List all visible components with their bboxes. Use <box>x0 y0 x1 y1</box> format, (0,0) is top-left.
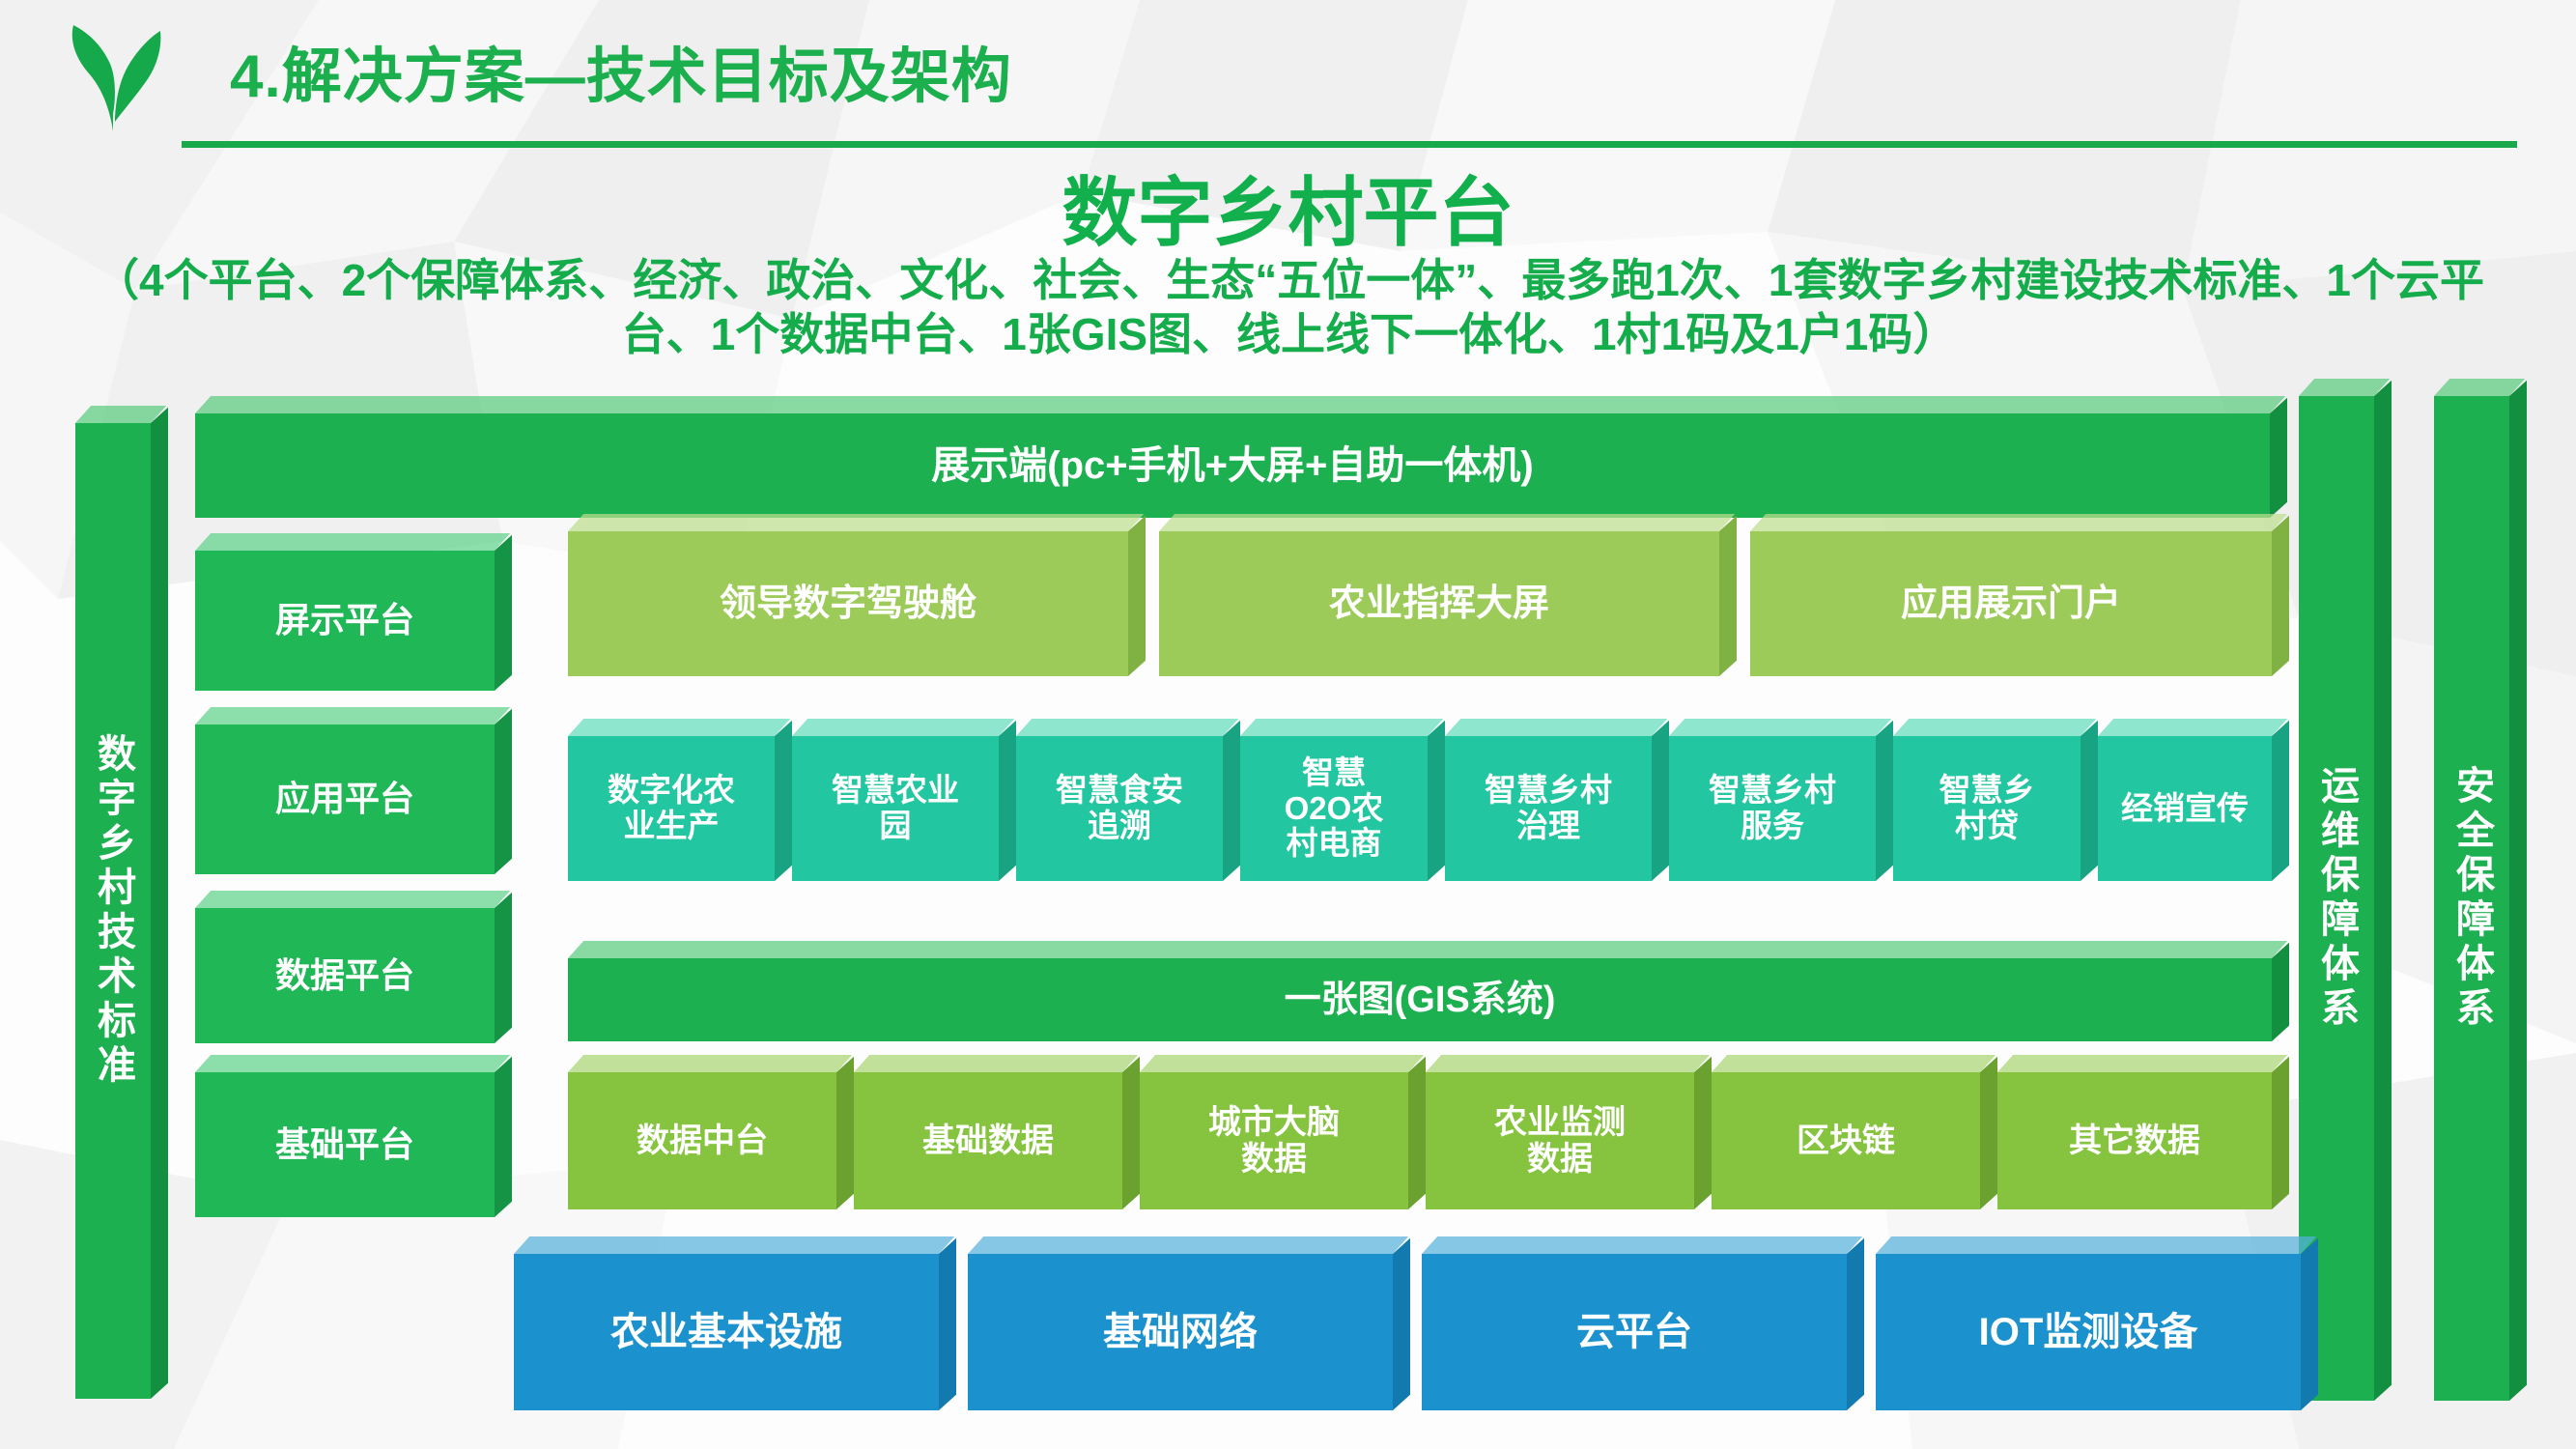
data-tile-3[interactable]: 农业监测 数据 <box>1426 1072 1694 1209</box>
display-tile-0[interactable]: 领导数字驾驶舱 <box>568 531 1128 676</box>
app-tile-1-label: 智慧农业 园 <box>826 773 965 844</box>
block-side-face <box>495 893 512 1043</box>
top-banner-label: 展示端(pc+手机+大屏+自助一体机) <box>925 444 1539 488</box>
infra-tile-1[interactable]: 基础网络 <box>968 1254 1393 1410</box>
infra-tile-2-label: 云平台 <box>1571 1311 1698 1354</box>
main-heading: 数字乡村平台 <box>0 153 2576 261</box>
app-tile-1[interactable]: 智慧农业 园 <box>792 736 999 881</box>
block-top-face <box>792 719 1014 736</box>
layer-label-data[interactable]: 数据平台 <box>195 908 495 1043</box>
layer-label-infrastructure[interactable]: 基础平台 <box>195 1072 495 1217</box>
app-tile-7-label: 经销宣传 <box>2115 791 2254 827</box>
left-standard-column-label: 数字乡村技术标准 <box>88 733 138 1089</box>
infra-tile-3-label: IOT监测设备 <box>1973 1311 2204 1354</box>
block-side-face <box>1128 516 1146 676</box>
infra-tile-2[interactable]: 云平台 <box>1422 1254 1847 1410</box>
app-tile-3[interactable]: 智慧 O2O农 村电商 <box>1240 736 1428 881</box>
block-top-face <box>1426 1055 1710 1072</box>
block-top-face <box>568 1055 852 1072</box>
block-top-face <box>195 533 510 551</box>
block-top-face <box>195 1055 510 1072</box>
block-side-face <box>1719 516 1737 676</box>
app-tile-5-label: 智慧乡村 服务 <box>1703 773 1842 844</box>
block-side-face <box>2272 1057 2289 1209</box>
block-top-face <box>1016 719 1238 736</box>
architecture-diagram: 数字乡村技术标准 运维保障体系 安全保障体系 展示端(pc+手机+大屏+自助一体… <box>0 396 2576 1449</box>
block-top-face <box>1240 719 1443 736</box>
block-side-face <box>836 1057 854 1209</box>
block-side-face <box>1408 1057 1426 1209</box>
right-column-security-label: 安全保障体系 <box>2447 765 2497 1032</box>
block-top-face <box>2098 719 2287 736</box>
block-side-face <box>2509 381 2527 1401</box>
block-side-face <box>1428 721 1445 881</box>
data-tile-1[interactable]: 基础数据 <box>854 1072 1122 1209</box>
display-tile-2-label: 应用展示门户 <box>1895 583 2127 625</box>
block-top-face <box>195 396 2285 413</box>
block-top-face <box>195 891 510 908</box>
right-column-security[interactable]: 安全保障体系 <box>2434 396 2509 1401</box>
block-side-face <box>775 721 792 881</box>
left-standard-column[interactable]: 数字乡村技术标准 <box>75 423 151 1399</box>
block-side-face <box>495 535 512 691</box>
block-side-face <box>939 1238 956 1410</box>
block-side-face <box>2301 1238 2318 1410</box>
display-tile-0-label: 领导数字驾驶舱 <box>714 583 982 625</box>
block-top-face <box>568 719 790 736</box>
data-tile-5-label: 其它数据 <box>2063 1122 2206 1159</box>
app-tile-2-label: 智慧食安 追溯 <box>1050 773 1189 844</box>
block-side-face <box>495 1057 512 1217</box>
block-side-face <box>1393 1238 1410 1410</box>
block-top-face <box>1750 514 2287 531</box>
app-tile-0[interactable]: 数字化农 业生产 <box>568 736 775 881</box>
block-top-face <box>968 1236 1408 1254</box>
block-side-face <box>999 721 1016 881</box>
layer-label-infrastructure-text: 基础平台 <box>269 1125 420 1164</box>
block-side-face <box>1847 1238 1864 1410</box>
block-side-face <box>2272 516 2289 676</box>
block-side-face <box>2272 721 2289 881</box>
gis-bar-label: 一张图(GIS系统) <box>1279 980 1562 1021</box>
data-tile-0-label: 数据中台 <box>631 1122 774 1159</box>
block-top-face <box>1422 1236 1862 1254</box>
block-side-face <box>2270 398 2287 518</box>
block-top-face <box>514 1236 954 1254</box>
display-tile-1[interactable]: 农业指挥大屏 <box>1159 531 1719 676</box>
block-top-face <box>195 707 510 724</box>
subtitle-paragraph: （4个平台、2个保障体系、经济、政治、文化、社会、生态“五位一体”、最多跑1次、… <box>92 253 2487 361</box>
block-side-face <box>1223 721 1240 881</box>
block-top-face <box>568 941 2287 958</box>
block-top-face <box>1445 719 1667 736</box>
app-tile-4-label: 智慧乡村 治理 <box>1479 773 1618 844</box>
block-side-face <box>2272 943 2289 1041</box>
block-top-face <box>1997 1055 2287 1072</box>
data-tile-2[interactable]: 城市大脑 数据 <box>1140 1072 1408 1209</box>
slide-header: 4.解决方案—技术目标及架构 <box>0 0 2576 155</box>
block-top-face <box>1159 514 1735 531</box>
data-tile-5[interactable]: 其它数据 <box>1997 1072 2272 1209</box>
block-top-face <box>568 514 1144 531</box>
layer-label-application-text: 应用平台 <box>269 780 420 818</box>
block-side-face <box>1694 1057 1712 1209</box>
app-tile-0-label: 数字化农 业生产 <box>602 773 741 844</box>
block-side-face <box>151 408 168 1399</box>
block-top-face <box>1669 719 1891 736</box>
block-side-face <box>1876 721 1893 881</box>
data-tile-1-label: 基础数据 <box>917 1122 1060 1159</box>
layer-label-data-text: 数据平台 <box>269 956 420 995</box>
block-side-face <box>1122 1057 1140 1209</box>
app-tile-6[interactable]: 智慧乡 村贷 <box>1893 736 2081 881</box>
gis-bar[interactable]: 一张图(GIS系统) <box>568 958 2272 1041</box>
data-tile-2-label: 城市大脑 数据 <box>1203 1104 1345 1178</box>
infra-tile-0-label: 农业基本设施 <box>605 1311 848 1354</box>
data-tile-0[interactable]: 数据中台 <box>568 1072 836 1209</box>
page-title: 4.解决方案—技术目标及架构 <box>230 27 1012 114</box>
display-tile-1-label: 农业指挥大屏 <box>1323 583 1555 625</box>
right-column-ops-label: 运维保障体系 <box>2311 765 2362 1032</box>
infra-tile-0[interactable]: 农业基本设施 <box>514 1254 939 1410</box>
display-tile-2[interactable]: 应用展示门户 <box>1750 531 2272 676</box>
data-tile-4[interactable]: 区块链 <box>1712 1072 1980 1209</box>
leaf-icon <box>60 17 166 133</box>
layer-label-display[interactable]: 屏示平台 <box>195 551 495 691</box>
block-side-face <box>2081 721 2098 881</box>
app-tile-7[interactable]: 经销宣传 <box>2098 736 2272 881</box>
title-divider <box>182 141 2517 148</box>
app-tile-5[interactable]: 智慧乡村 服务 <box>1669 736 1876 881</box>
block-side-face <box>495 709 512 874</box>
layer-label-application[interactable]: 应用平台 <box>195 724 495 874</box>
block-top-face <box>1140 1055 1424 1072</box>
block-top-face <box>1893 719 2096 736</box>
app-tile-4[interactable]: 智慧乡村 治理 <box>1445 736 1652 881</box>
block-top-face <box>854 1055 1138 1072</box>
block-side-face <box>1980 1057 1997 1209</box>
block-top-face <box>1712 1055 1996 1072</box>
block-side-face <box>2374 381 2392 1401</box>
block-side-face <box>1652 721 1669 881</box>
layer-label-display-text: 屏示平台 <box>269 601 420 639</box>
data-tile-3-label: 农业监测 数据 <box>1488 1104 1631 1178</box>
block-top-face <box>1876 1236 2316 1254</box>
data-tile-4-label: 区块链 <box>1791 1122 1901 1159</box>
infra-tile-1-label: 基础网络 <box>1097 1311 1263 1354</box>
top-banner-display-clients[interactable]: 展示端(pc+手机+大屏+自助一体机) <box>195 413 2270 518</box>
app-tile-3-label: 智慧 O2O农 村电商 <box>1279 755 1390 863</box>
infra-tile-3[interactable]: IOT监测设备 <box>1876 1254 2301 1410</box>
app-tile-6-label: 智慧乡 村贷 <box>1934 773 2041 844</box>
app-tile-2[interactable]: 智慧食安 追溯 <box>1016 736 1223 881</box>
